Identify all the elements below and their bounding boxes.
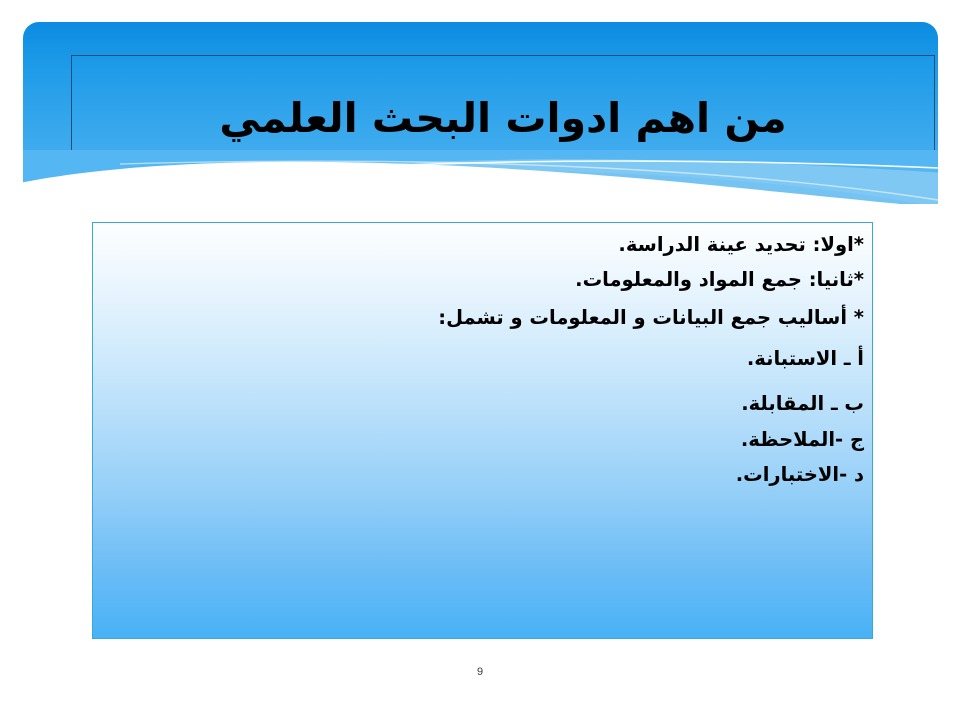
slide-canvas: من اهم ادوات البحث العلمي (0, 0, 960, 720)
wave-left-gutter (0, 150, 23, 204)
content-line-7: د -الاختبارات. (101, 465, 864, 485)
content-text-block: *اولا: تحديد عينة الدراسة. *ثانيا: جمع ا… (101, 225, 864, 485)
content-box: *اولا: تحديد عينة الدراسة. *ثانيا: جمع ا… (92, 222, 873, 639)
content-line-1: *اولا: تحديد عينة الدراسة. (101, 235, 864, 255)
wave-right-gutter (938, 150, 960, 204)
page-title: من اهم ادوات البحث العلمي (219, 95, 786, 146)
content-line-6: ج -الملاحظة. (101, 430, 864, 450)
content-line-5: ب ـ المقابلة. (101, 394, 864, 414)
slide-header-band: من اهم ادوات البحث العلمي (23, 22, 938, 204)
content-line-4: أ ـ الاستبانة. (101, 349, 864, 369)
content-line-2: *ثانيا: جمع المواد والمعلومات. (101, 270, 864, 290)
content-line-3: * أساليب جمع البيانات و المعلومات و تشمل… (101, 308, 864, 328)
slide-number: 9 (0, 666, 960, 678)
title-frame: من اهم ادوات البحث العلمي (71, 55, 935, 187)
